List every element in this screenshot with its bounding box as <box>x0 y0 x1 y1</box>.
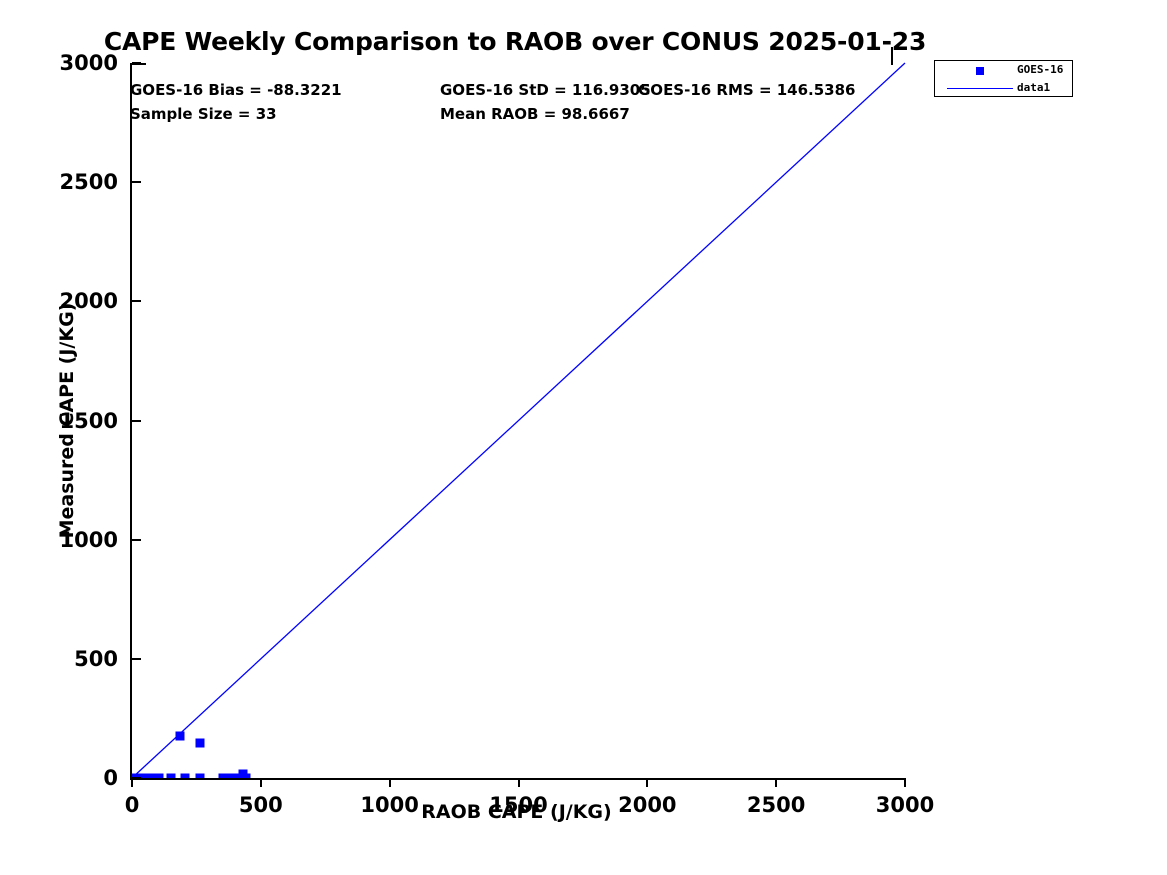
data-point <box>195 738 204 747</box>
plot-area: 050010001500200025003000 050010001500200… <box>130 63 905 780</box>
y-tick <box>132 777 141 779</box>
x-tick <box>518 778 520 787</box>
legend-line-icon <box>947 88 1013 89</box>
x-axis-label: RAOB CAPE (J/KG) <box>130 801 903 823</box>
x-tick <box>904 778 906 787</box>
y-tick-label: 500 <box>74 647 118 671</box>
legend-square-marker-icon <box>976 67 984 75</box>
data-point <box>180 774 189 779</box>
x-tick <box>389 778 391 787</box>
scatter-series-goes16 <box>132 63 905 778</box>
x-tick <box>775 778 777 787</box>
y-tick <box>132 300 141 302</box>
x-tick <box>260 778 262 787</box>
legend-label-goes16: GOES-16 <box>1017 63 1063 76</box>
page-title: CAPE Weekly Comparison to RAOB over CONU… <box>0 27 1030 56</box>
data-point <box>155 774 164 779</box>
data-point <box>241 774 250 779</box>
y-tick <box>132 181 141 183</box>
legend-label-data1: data1 <box>1017 81 1050 94</box>
legend-entry-goes16[interactable]: GOES-16 <box>935 62 1072 80</box>
legend-entry-data1[interactable]: data1 <box>935 80 1072 98</box>
y-tick <box>132 539 141 541</box>
y-tick-label: 0 <box>103 766 118 790</box>
data-point <box>166 774 175 779</box>
data-point <box>175 731 184 740</box>
data-point <box>195 774 204 779</box>
x-tick <box>646 778 648 787</box>
chart-legend[interactable]: GOES-16 data1 <box>934 60 1073 97</box>
y-axis-label: Measured CAPE (J/KG) <box>56 63 78 778</box>
x-tick <box>131 778 133 787</box>
y-tick <box>132 62 141 64</box>
y-tick <box>132 658 141 660</box>
y-tick <box>132 420 141 422</box>
chart-figure: CAPE Weekly Comparison to RAOB over CONU… <box>0 0 1167 875</box>
